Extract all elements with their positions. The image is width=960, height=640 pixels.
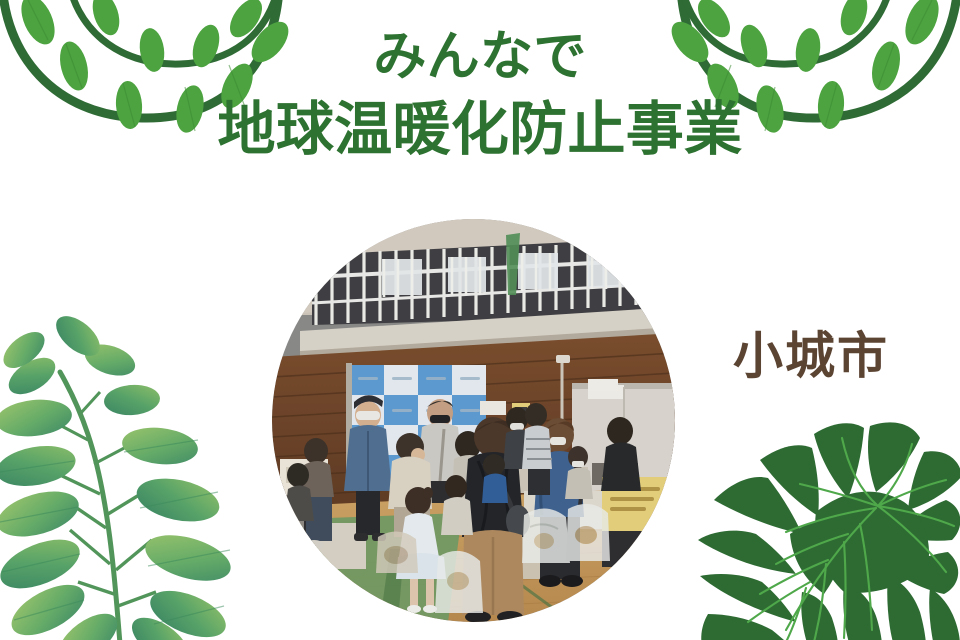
event-photo bbox=[272, 219, 675, 622]
branch-leaf-veins-icon bbox=[0, 440, 230, 624]
poster-canvas: みんなで 地球温暖化防止事業 小城市 bbox=[0, 0, 960, 640]
title-line-1: みんなで bbox=[0, 26, 960, 89]
monstera-leaf-decoration bbox=[698, 416, 960, 640]
monstera-leaf-blade-icon bbox=[698, 422, 960, 640]
event-photo-content bbox=[272, 219, 675, 622]
branch-stem-icon bbox=[54, 372, 156, 640]
photo-scene bbox=[272, 219, 675, 622]
monstera-veins-icon bbox=[748, 438, 954, 640]
title-line-2: 地球温暖化防止事業 bbox=[0, 95, 960, 163]
city-name-label: 小城市 bbox=[733, 331, 889, 381]
branch-leaves-icon bbox=[0, 314, 236, 640]
watercolor-branch-decoration bbox=[0, 314, 242, 640]
poster-title: みんなで 地球温暖化防止事業 bbox=[0, 26, 960, 163]
